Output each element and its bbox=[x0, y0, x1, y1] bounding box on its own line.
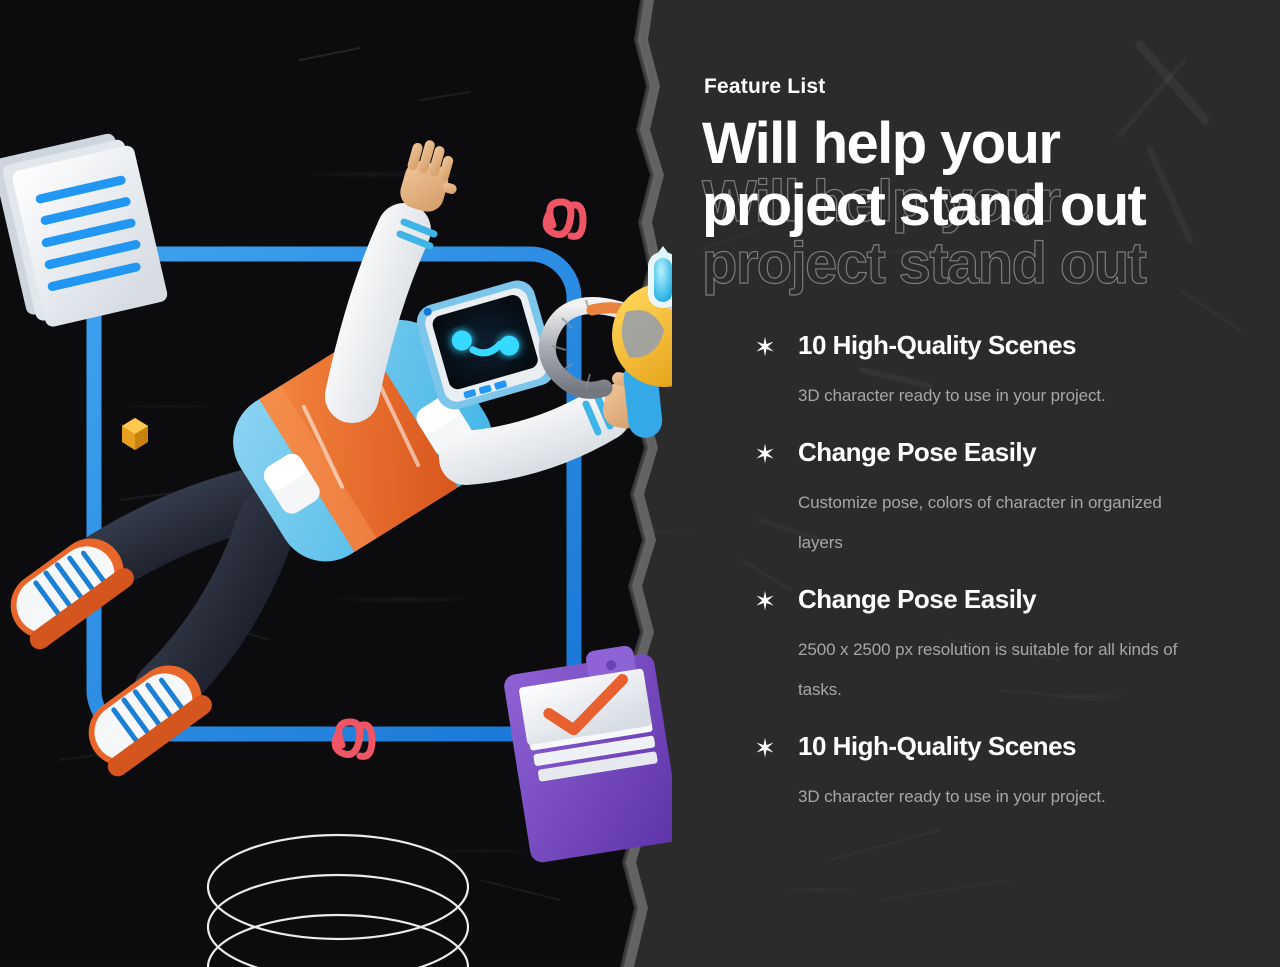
document-stack bbox=[0, 129, 169, 332]
clipboard-paper-stack bbox=[519, 668, 658, 783]
pink-spiral-top bbox=[546, 202, 583, 236]
headline-line-2: project stand out bbox=[702, 174, 1145, 238]
feature-description: 3D character ready to use in your projec… bbox=[798, 376, 1198, 416]
feature-title: Change Pose Easily bbox=[798, 437, 1252, 467]
feature-list-panel: Feature List Will help your project stan… bbox=[704, 0, 1264, 967]
feature-item: ✶ Change Pose Easily 2500 x 2500 px reso… bbox=[752, 584, 1252, 710]
star-bullet-icon: ✶ bbox=[752, 587, 778, 615]
illustration-3d-astronaut bbox=[0, 0, 672, 967]
star-bullet-icon: ✶ bbox=[752, 440, 778, 468]
yellow-cube bbox=[122, 418, 148, 450]
eyebrow-label: Feature List bbox=[704, 75, 825, 99]
headline-line-1: Will help your bbox=[702, 112, 1059, 176]
purple-clipboard bbox=[501, 642, 672, 864]
feature-description: 2500 x 2500 px resolution is suitable fo… bbox=[798, 630, 1198, 710]
feature-item: ✶ 10 High-Quality Scenes 3D character re… bbox=[752, 330, 1252, 416]
feature-item: ✶ 10 High-Quality Scenes 3D character re… bbox=[752, 731, 1252, 817]
wire-ellipses bbox=[208, 835, 468, 967]
feature-title: 10 High-Quality Scenes bbox=[798, 330, 1252, 360]
character-legs bbox=[96, 500, 268, 690]
feature-title: Change Pose Easily bbox=[798, 584, 1252, 614]
headline-ghost-line-2: project stand out bbox=[702, 232, 1145, 296]
feature-title: 10 High-Quality Scenes bbox=[798, 731, 1252, 761]
headline-block: Will help your project stand out Will he… bbox=[702, 112, 1262, 292]
feature-description: 3D character ready to use in your projec… bbox=[798, 777, 1198, 817]
star-bullet-icon: ✶ bbox=[752, 333, 778, 361]
feature-item: ✶ Change Pose Easily Customize pose, col… bbox=[752, 437, 1252, 563]
star-bullet-icon: ✶ bbox=[752, 734, 778, 762]
feature-list: ✶ 10 High-Quality Scenes 3D character re… bbox=[752, 330, 1252, 838]
poster-canvas: Feature List Will help your project stan… bbox=[0, 0, 1280, 967]
ray-gun-crystal bbox=[648, 246, 672, 308]
feature-description: Customize pose, colors of character in o… bbox=[798, 483, 1198, 563]
